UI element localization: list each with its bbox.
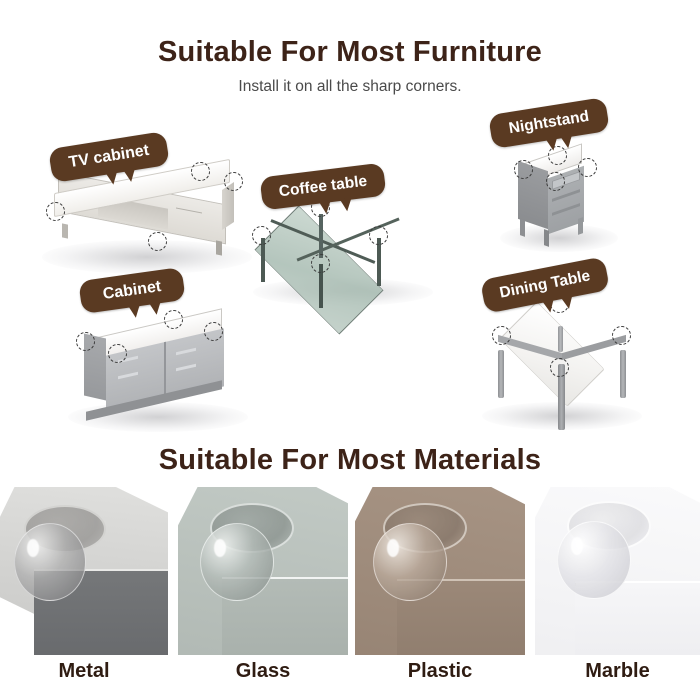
material-panel-plastic xyxy=(355,487,525,655)
corner-marker xyxy=(224,172,243,191)
nightstand-leg xyxy=(578,217,583,235)
guard-highlight xyxy=(214,539,226,557)
furniture-item-coffee-table: Coffee table xyxy=(245,168,445,308)
coffee-table-leg xyxy=(377,238,381,286)
material-panel-metal xyxy=(0,487,168,655)
corner-guard-glass xyxy=(200,503,298,609)
nightstand-leg xyxy=(520,219,525,237)
corner-marker xyxy=(550,358,569,377)
material-label-plastic: Plastic xyxy=(355,660,525,683)
badge-coffee-table: Coffee table xyxy=(259,163,386,211)
badge-label: Coffee table xyxy=(278,172,368,201)
corner-marker xyxy=(46,202,65,221)
material-label-glass: Glass xyxy=(178,660,348,683)
material-panel-marble xyxy=(535,487,700,655)
badge-dining-table: Dining Table xyxy=(480,256,610,313)
guard-highlight xyxy=(571,537,583,555)
cabinet-door-divider xyxy=(164,342,166,400)
material-label-metal: Metal xyxy=(0,660,168,683)
corner-marker xyxy=(164,310,183,329)
corner-marker xyxy=(612,326,631,345)
corner-guard-metal xyxy=(14,505,110,609)
page-title-materials: Suitable For Most Materials xyxy=(0,444,700,477)
materials-panel-group xyxy=(0,487,700,655)
page-subtitle: Install it on all the sharp corners. xyxy=(0,78,700,96)
corner-marker xyxy=(108,344,127,363)
corner-marker xyxy=(252,226,271,245)
tv-cabinet-leg xyxy=(62,223,68,238)
tv-cabinet-leg xyxy=(216,240,222,255)
material-panel-glass xyxy=(178,487,348,655)
page-title-furniture: Suitable For Most Furniture xyxy=(0,36,700,69)
badge-nightstand: Nightstand xyxy=(488,97,610,149)
guard-ball xyxy=(200,523,274,601)
badge-label: TV cabinet xyxy=(68,142,151,172)
guard-highlight xyxy=(27,539,39,557)
dining-table-leg xyxy=(498,350,504,398)
corner-marker xyxy=(369,226,388,245)
badge-cabinet: Cabinet xyxy=(78,267,186,314)
furniture-item-cabinet: Cabinet xyxy=(56,270,266,430)
guard-ball xyxy=(557,521,631,599)
furniture-item-tv-cabinet: TV cabinet xyxy=(36,140,251,270)
corner-marker xyxy=(148,232,167,251)
corner-marker xyxy=(492,326,511,345)
nightstand-leg xyxy=(544,229,549,247)
guard-highlight xyxy=(387,539,399,557)
corner-marker xyxy=(546,172,565,191)
furniture-item-dining-table: Dining Table xyxy=(472,268,652,433)
material-label-marble: Marble xyxy=(535,660,700,683)
badge-label: Dining Table xyxy=(498,267,592,302)
corner-marker xyxy=(311,254,330,273)
product-infographic: Suitable For Most Furniture Install it o… xyxy=(0,0,700,700)
badge-label: Nightstand xyxy=(508,108,591,138)
dining-table-leg xyxy=(620,350,626,398)
guard-ball xyxy=(373,523,447,601)
corner-guard-plastic xyxy=(373,503,471,609)
corner-marker xyxy=(514,160,533,179)
corner-guard-marble xyxy=(557,501,655,607)
corner-marker xyxy=(76,332,95,351)
furniture-item-nightstand: Nightstand xyxy=(482,100,632,260)
badge-label: Cabinet xyxy=(102,278,163,304)
corner-marker xyxy=(204,322,223,341)
guard-ball xyxy=(14,523,86,601)
corner-marker xyxy=(578,158,597,177)
corner-marker xyxy=(191,162,210,181)
dining-table-leg xyxy=(558,326,563,352)
coffee-table-leg xyxy=(319,214,323,258)
furniture-illustration-group: TV cabinet Coffee table xyxy=(0,100,700,440)
